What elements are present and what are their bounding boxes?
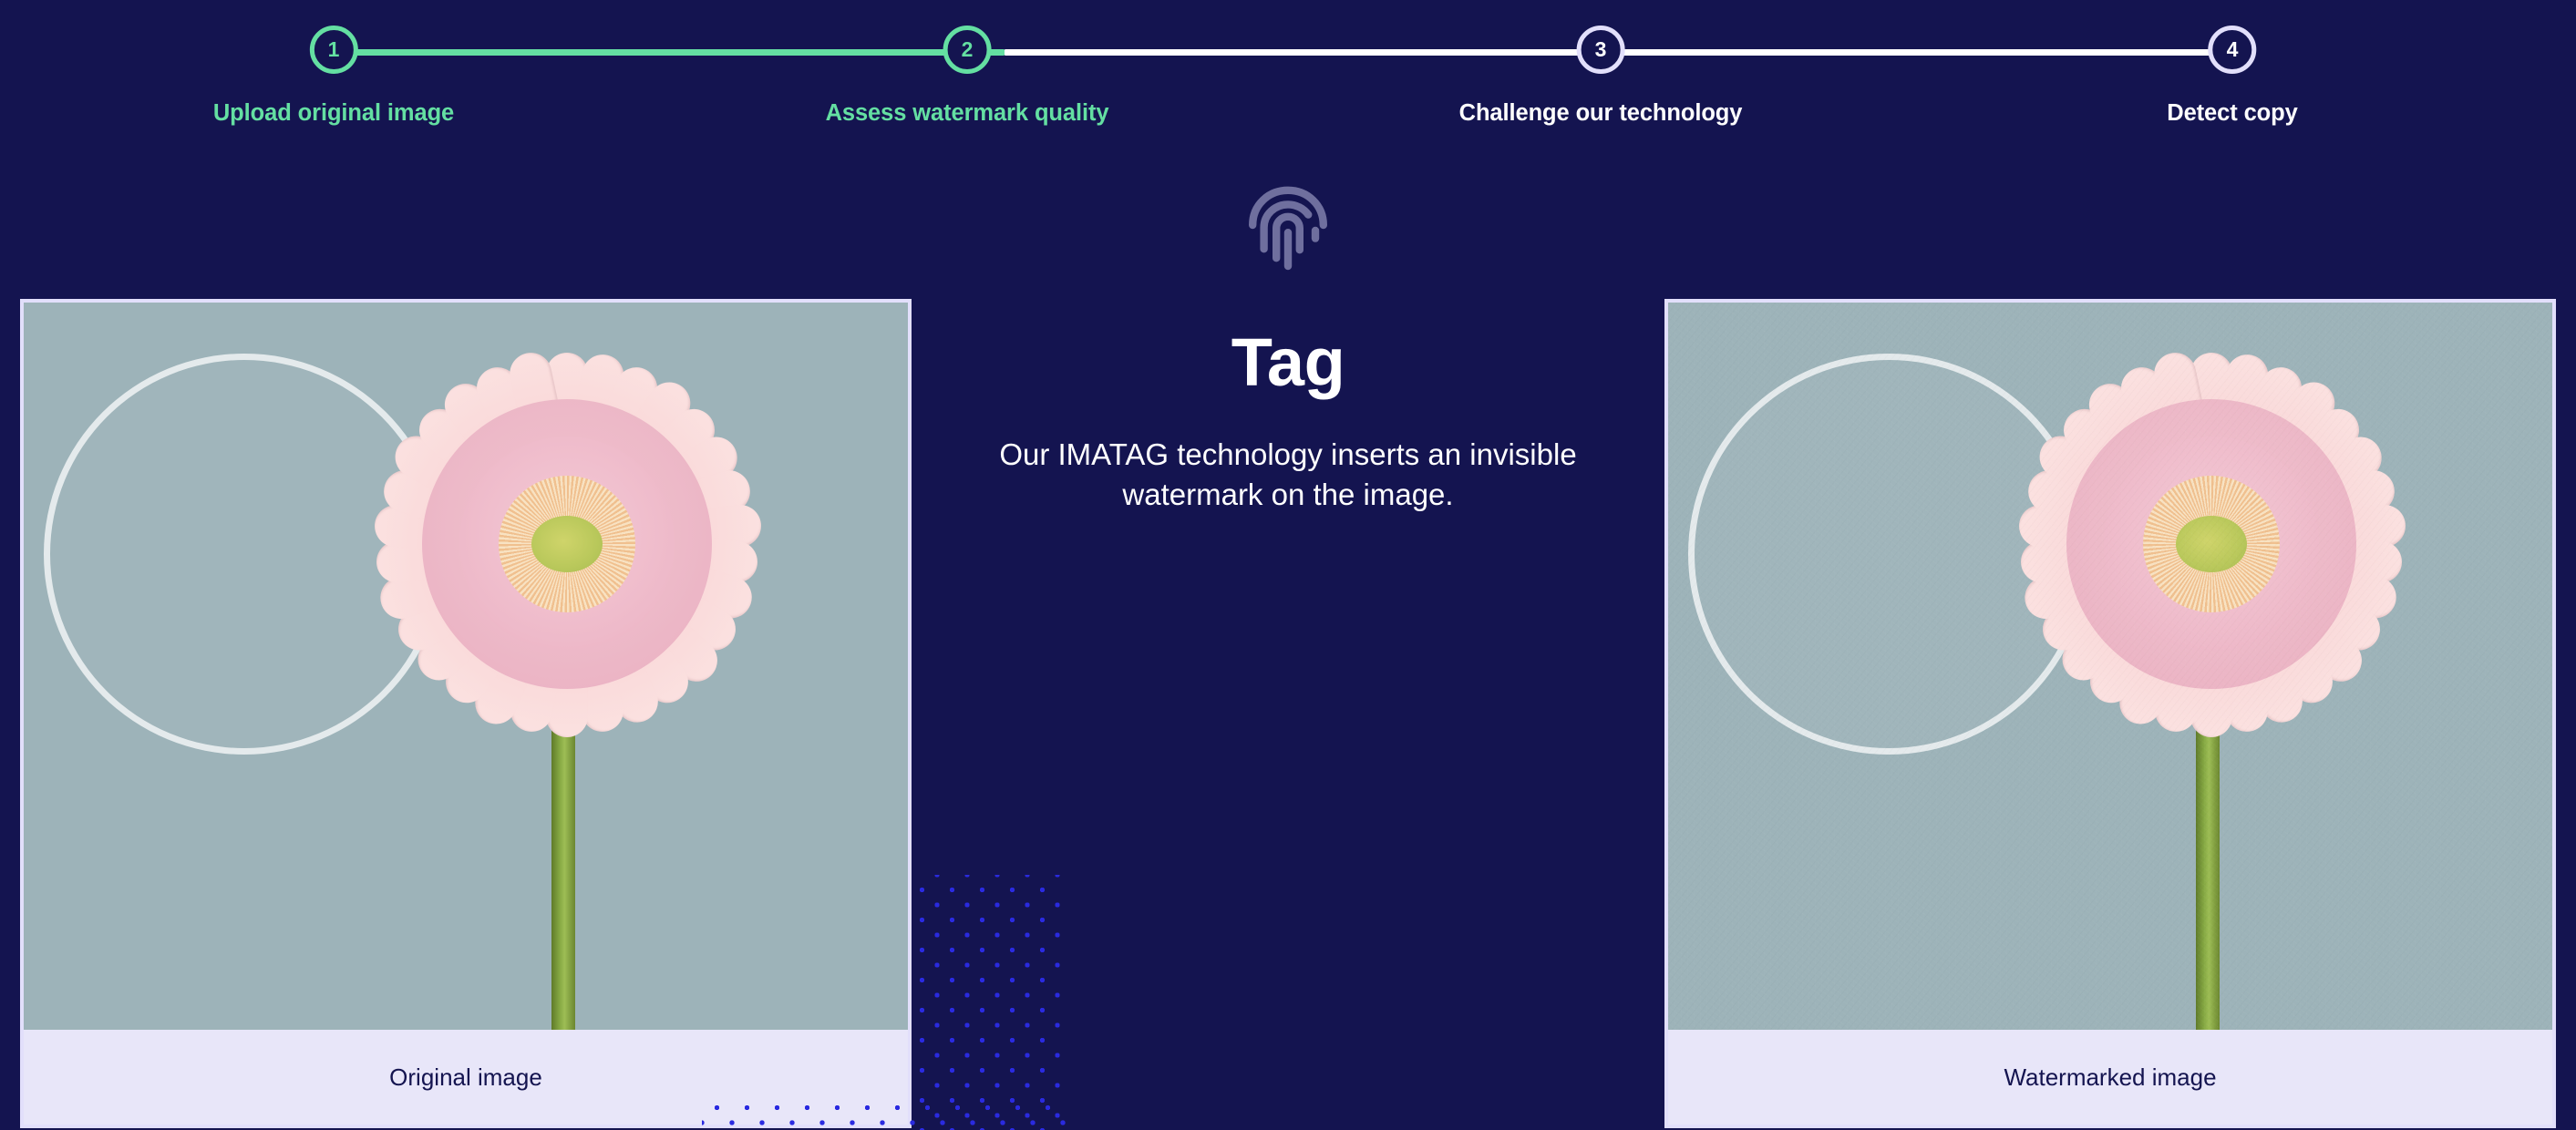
flower-disc-core	[531, 516, 603, 572]
stepper-step-3-label: Challenge our technology	[1459, 100, 1743, 127]
gerbera-daisy-graphic	[1883, 321, 2552, 1030]
stepper-step-3-number: 3	[1577, 26, 1625, 74]
stepper-step-4[interactable]: 4 Detect copy	[2167, 26, 2297, 127]
dot-pattern-decoration	[907, 875, 1064, 1130]
comparison-stage: Original image	[0, 182, 2576, 1130]
stepper-step-1-number: 1	[310, 26, 358, 74]
center-info-column: Tag Our IMATAG technology inserts an inv…	[972, 182, 1604, 515]
page-title: Tag	[1231, 329, 1345, 396]
stepper-step-2-label: Assess watermark quality	[826, 100, 1109, 127]
dot-pattern-decoration-lower	[702, 1101, 1066, 1130]
original-image-panel: Original image	[20, 299, 912, 1128]
page-description: Our IMATAG technology inserts an invisib…	[978, 435, 1598, 515]
watermarked-image	[1668, 303, 2552, 1030]
stepper-step-2[interactable]: 2 Assess watermark quality	[826, 26, 1109, 127]
flower-bloom	[1892, 330, 2530, 758]
fingerprint-icon	[1248, 182, 1328, 276]
gerbera-daisy-graphic	[239, 321, 908, 1030]
stepper-step-3[interactable]: 3 Challenge our technology	[1459, 26, 1743, 127]
stepper-step-4-label: Detect copy	[2167, 100, 2297, 127]
original-image	[24, 303, 908, 1030]
stepper-step-1-label: Upload original image	[213, 100, 454, 127]
flower-bloom	[248, 330, 886, 758]
stepper-step-4-number: 4	[2208, 26, 2256, 74]
watermarked-image-panel: Watermarked image	[1664, 299, 2556, 1128]
stepper-step-2-number: 2	[943, 26, 991, 74]
stepper-track	[334, 49, 2231, 56]
progress-stepper: 1 Upload original image 2 Assess waterma…	[0, 0, 2576, 182]
flower-disc-core	[2176, 516, 2247, 572]
watermarked-image-caption: Watermarked image	[1668, 1030, 2552, 1125]
stepper-step-1[interactable]: 1 Upload original image	[213, 26, 454, 127]
